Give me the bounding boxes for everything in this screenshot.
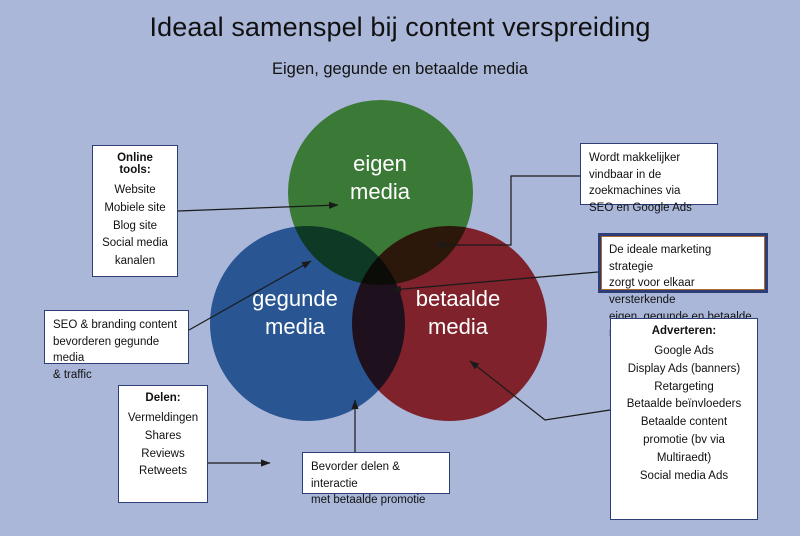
- callout-wordt-makkelijker-line-2: zoekmachines via: [589, 183, 709, 200]
- diagram-canvas: Ideaal samenspel bij content verspreidin…: [0, 0, 800, 536]
- callout-seo-branding-line-2: & traffic: [53, 367, 180, 384]
- callout-delen-item-0: Vermeldingen: [127, 410, 199, 428]
- callout-delen-item-3: Retweets: [127, 463, 199, 481]
- page-title: Ideaal samenspel bij content verspreidin…: [0, 12, 800, 43]
- callout-online-tools-item-2: Blog site: [101, 218, 169, 236]
- venn-diagram: eigen media gegunde media betaalde media: [205, 100, 545, 430]
- callout-online-tools-heading: Online tools:: [101, 152, 169, 176]
- callout-wordt-makkelijker[interactable]: Wordt makkelijker vindbaar in de zoekmac…: [580, 143, 718, 205]
- callout-seo-branding-line-1: bevorderen gegunde media: [53, 334, 180, 367]
- callout-ideale-strategie-line-1: zorgt voor elkaar versterkende: [609, 275, 757, 308]
- callout-adverteren-heading: Adverteren:: [619, 325, 749, 337]
- callout-adverteren-item-2: Retargeting: [619, 379, 749, 397]
- callout-adverteren-item-1: Display Ads (banners): [619, 361, 749, 379]
- callout-online-tools-item-3: Social media: [101, 235, 169, 253]
- callout-online-tools-item-4: kanalen: [101, 253, 169, 271]
- callout-adverteren-item-6: Multiraedt): [619, 450, 749, 468]
- callout-delen[interactable]: Delen: Vermeldingen Shares Reviews Retwe…: [118, 385, 208, 503]
- callout-online-tools-item-1: Mobiele site: [101, 200, 169, 218]
- callout-seo-branding-line-0: SEO & branding content: [53, 317, 180, 334]
- callout-adverteren-item-0: Google Ads: [619, 343, 749, 361]
- callout-delen-item-1: Shares: [127, 428, 199, 446]
- page-subtitle: Eigen, gegunde en betaalde media: [0, 60, 800, 79]
- callout-online-tools[interactable]: Online tools: Website Mobiele site Blog …: [92, 145, 178, 277]
- callout-wordt-makkelijker-line-1: vindbaar in de: [589, 167, 709, 184]
- callout-delen-item-2: Reviews: [127, 446, 199, 464]
- callout-ideale-strategie[interactable]: De ideale marketing strategie zorgt voor…: [598, 233, 768, 293]
- callout-adverteren[interactable]: Adverteren: Google Ads Display Ads (bann…: [610, 318, 758, 520]
- callout-bevorder-line-1: met betaalde promotie: [311, 492, 441, 509]
- callout-seo-branding[interactable]: SEO & branding content bevorderen gegund…: [44, 310, 189, 364]
- callout-adverteren-item-7: Social media Ads: [619, 468, 749, 486]
- callout-delen-heading: Delen:: [127, 392, 199, 404]
- callout-wordt-makkelijker-line-3: SEO en Google Ads: [589, 200, 709, 217]
- callout-online-tools-item-0: Website: [101, 182, 169, 200]
- callout-adverteren-item-5: promotie (bv via: [619, 432, 749, 450]
- callout-bevorder-line-0: Bevorder delen & interactie: [311, 459, 441, 492]
- venn-circle-betaalde-media: [352, 226, 547, 421]
- callout-ideale-strategie-line-0: De ideale marketing strategie: [609, 242, 757, 275]
- callout-adverteren-item-3: Betaalde beïnvloeders: [619, 396, 749, 414]
- callout-wordt-makkelijker-line-0: Wordt makkelijker: [589, 150, 709, 167]
- callout-bevorder-delen[interactable]: Bevorder delen & interactie met betaalde…: [302, 452, 450, 494]
- callout-adverteren-item-4: Betaalde content: [619, 414, 749, 432]
